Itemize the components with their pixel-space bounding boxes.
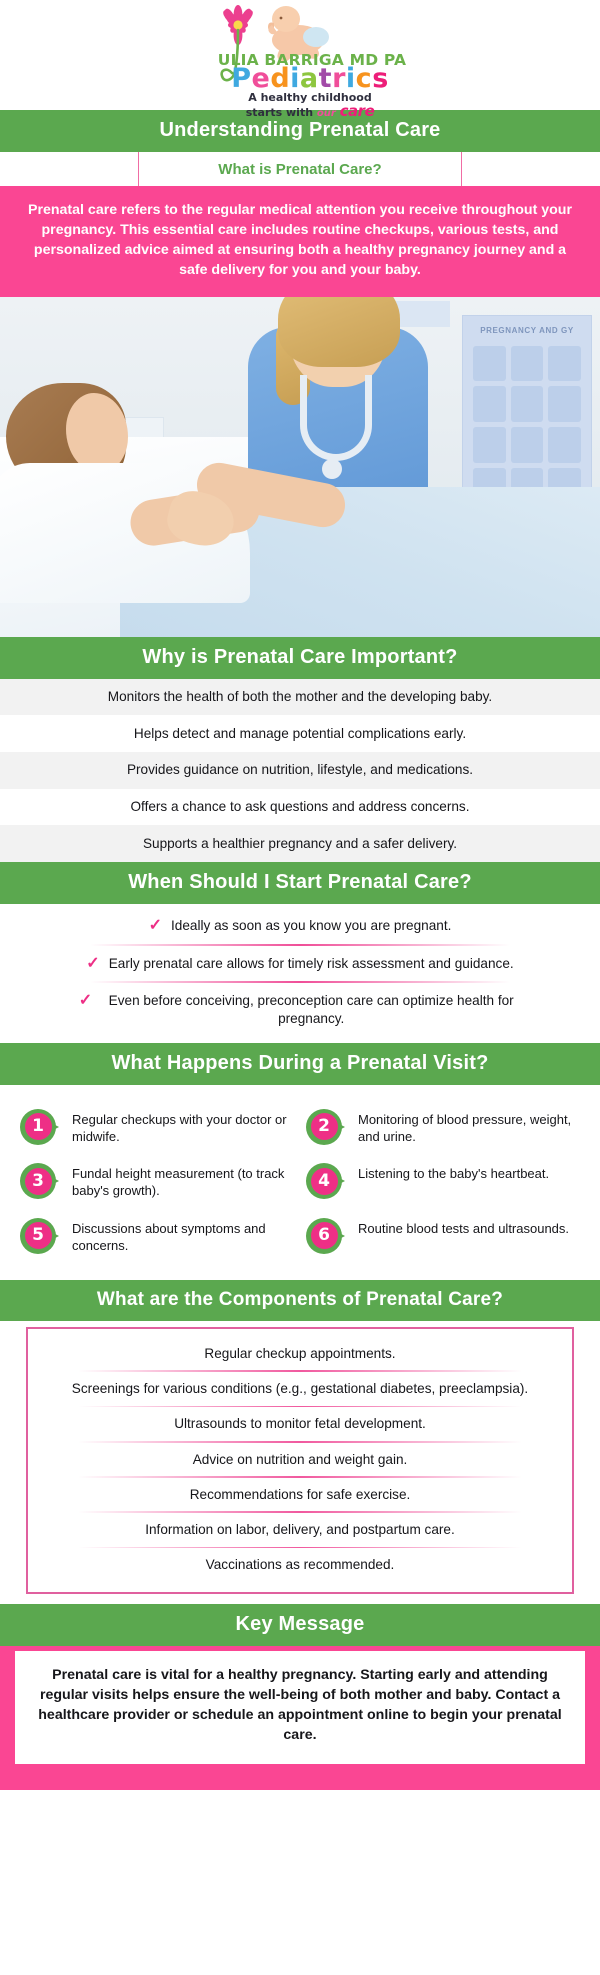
key-message-heading: Key Message	[0, 1604, 600, 1646]
logo-tagline-our: our	[317, 108, 336, 119]
list-item: Information on labor, delivery, and post…	[42, 1513, 558, 1547]
components-section-wrap: Regular checkup appointments. Screenings…	[0, 1321, 600, 1604]
badge-number: 1	[25, 1113, 52, 1140]
practice-logo: ULIA BARRIGA MD PA Pediatrics A healthy …	[0, 0, 600, 110]
stethoscope-diaphragm	[322, 459, 342, 479]
check-icon: ✓	[149, 918, 162, 934]
list-item: Monitors the health of both the mother a…	[0, 679, 600, 716]
why-section-heading: Why is Prenatal Care Important?	[0, 637, 600, 679]
visit-section-grid: 1 Regular checkups with your doctor or m…	[0, 1085, 600, 1280]
components-section-heading: What are the Components of Prenatal Care…	[0, 1280, 600, 1321]
list-item-label: Routine blood tests and ultrasounds.	[358, 1218, 569, 1237]
list-item-label: Listening to the baby's heartbeat.	[358, 1163, 549, 1182]
list-item-label: Early prenatal care allows for timely ri…	[109, 955, 514, 973]
key-message-wrap: Prenatal care is vital for a healthy pre…	[0, 1646, 600, 1778]
intro-paragraph: Prenatal care refers to the regular medi…	[0, 186, 600, 297]
when-section-list: ✓ Ideally as soon as you know you are pr…	[0, 904, 600, 1043]
when-section-heading: When Should I Start Prenatal Care?	[0, 862, 600, 904]
list-item-label: Even before conceiving, preconception ca…	[101, 992, 521, 1028]
list-item: Vaccinations as recommended.	[42, 1548, 558, 1582]
clinic-photo: PREGNANCY AND GY	[0, 297, 600, 637]
number-badge: 1	[20, 1109, 62, 1145]
list-item-label: Discussions about symptoms and concerns.	[72, 1218, 296, 1254]
list-item: Supports a healthier pregnancy and a saf…	[0, 825, 600, 862]
subtitle-what-is-prenatal-care: What is Prenatal Care?	[138, 152, 462, 186]
number-badge: 6	[306, 1218, 348, 1254]
bottom-pink-bar	[0, 1778, 600, 1790]
list-item: 1 Regular checkups with your doctor or m…	[14, 1103, 300, 1151]
list-item: Ultrasounds to monitor fetal development…	[42, 1407, 558, 1441]
photo-poster-grid	[473, 346, 581, 504]
subtitle-row: What is Prenatal Care?	[0, 152, 600, 186]
list-item: 2 Monitoring of blood pressure, weight, …	[300, 1103, 586, 1151]
badge-number: 5	[25, 1222, 52, 1249]
list-item: Offers a chance to ask questions and add…	[0, 789, 600, 826]
logo-tagline-line2: starts with our care	[200, 102, 420, 120]
components-box: Regular checkup appointments. Screenings…	[26, 1327, 574, 1594]
list-item-label: Fundal height measurement (to track baby…	[72, 1163, 296, 1199]
badge-number: 6	[311, 1222, 338, 1249]
list-item: Provides guidance on nutrition, lifestyl…	[0, 752, 600, 789]
list-item: 5 Discussions about symptoms and concern…	[14, 1212, 300, 1260]
subtitle-right-pad	[462, 152, 600, 186]
list-item-label: Monitoring of blood pressure, weight, an…	[358, 1109, 582, 1145]
list-item: 4 Listening to the baby's heartbeat.	[300, 1157, 586, 1205]
list-item: Regular checkup appointments.	[42, 1337, 558, 1371]
list-item: ✓ Ideally as soon as you know you are pr…	[0, 908, 600, 944]
badge-number: 3	[25, 1168, 52, 1195]
number-badge: 2	[306, 1109, 348, 1145]
list-item: Advice on nutrition and weight gain.	[42, 1443, 558, 1477]
badge-number: 4	[311, 1168, 338, 1195]
photo-poster-text: PREGNANCY AND GY	[463, 326, 591, 335]
list-item-label: Regular checkups with your doctor or mid…	[72, 1109, 296, 1145]
number-badge: 3	[20, 1163, 62, 1199]
list-item: ✓ Even before conceiving, preconception …	[0, 983, 600, 1037]
photo-poster: PREGNANCY AND GY	[462, 315, 592, 515]
badge-number: 2	[311, 1113, 338, 1140]
list-item: 6 Routine blood tests and ultrasounds.	[300, 1212, 586, 1260]
infographic-page: ULIA BARRIGA MD PA Pediatrics A healthy …	[0, 0, 600, 1790]
logo-tagline-care: care	[340, 102, 375, 120]
list-item: Helps detect and manage potential compli…	[0, 715, 600, 752]
check-icon: ✓	[79, 993, 92, 1009]
list-item: Recommendations for safe exercise.	[42, 1478, 558, 1512]
number-badge: 4	[306, 1163, 348, 1199]
visit-section-heading: What Happens During a Prenatal Visit?	[0, 1043, 600, 1085]
number-badge: 5	[20, 1218, 62, 1254]
photo-nurse-hair	[278, 297, 400, 367]
list-item: Screenings for various conditions (e.g.,…	[42, 1372, 558, 1406]
subtitle-left-pad	[0, 152, 138, 186]
list-item-label: Ideally as soon as you know you are preg…	[171, 917, 451, 935]
check-icon: ✓	[86, 956, 99, 972]
list-item: 3 Fundal height measurement (to track ba…	[14, 1157, 300, 1205]
stethoscope-icon	[300, 375, 372, 461]
logo-pediatrics-word: Pediatrics	[200, 65, 420, 92]
list-item: ✓ Early prenatal care allows for timely …	[0, 946, 600, 982]
why-section-list: Monitors the health of both the mother a…	[0, 679, 600, 862]
logo-tagline-plain: starts with	[246, 106, 313, 119]
key-message-text: Prenatal care is vital for a healthy pre…	[15, 1651, 585, 1764]
